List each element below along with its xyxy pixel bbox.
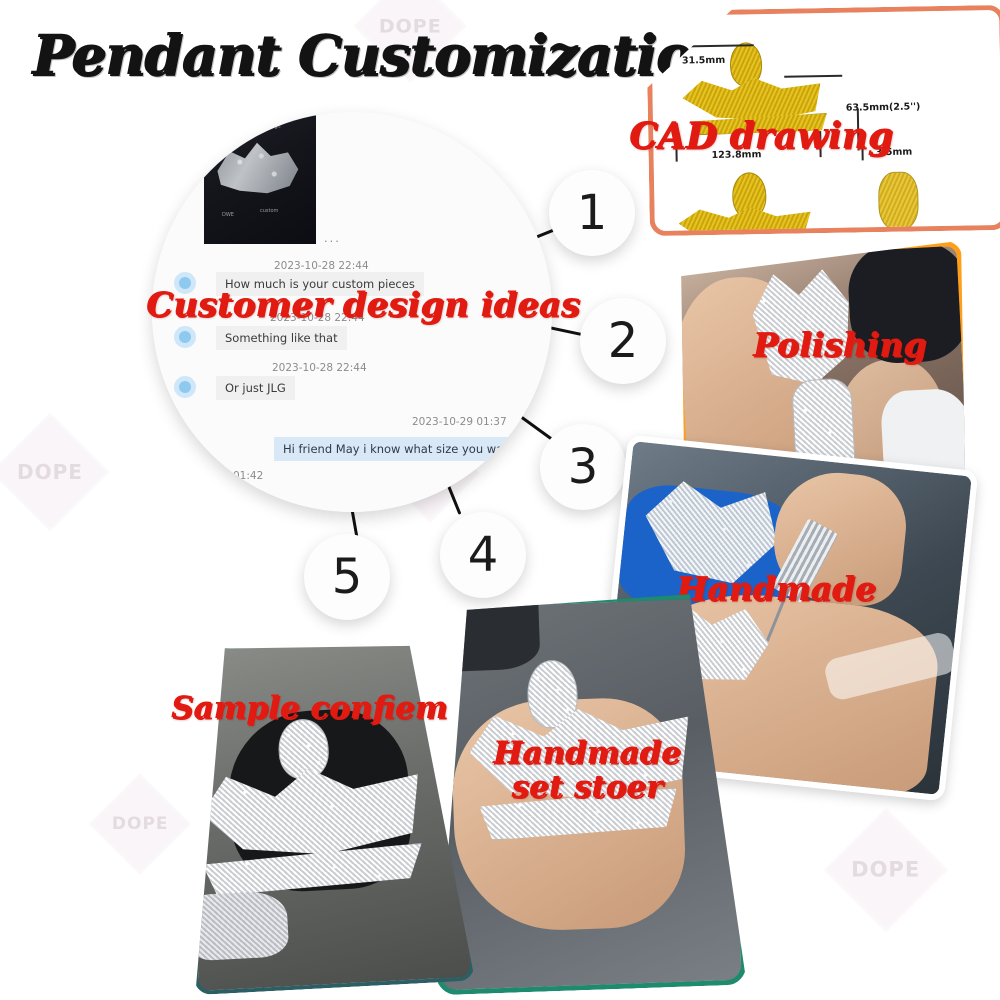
pendant-preview-icon: [214, 138, 300, 198]
chat-message-incoming: Or just JLG: [216, 376, 295, 400]
cad-dimension-label: 63.5mm(2.5''): [846, 101, 921, 113]
step-number-4[interactable]: 4: [440, 512, 526, 598]
infographic-canvas: DOPE DOPE DOPE DOPE DOPE Pendant Customi…: [0, 0, 1000, 1000]
step-number-3-label: 3: [568, 439, 599, 495]
page-title: Pendant Customization: [32, 22, 730, 87]
label-handmade-set-stoer-line1: Handmade: [493, 738, 681, 770]
step-number-1[interactable]: 1: [549, 170, 635, 256]
label-cad-drawing: CAD drawing: [629, 118, 893, 155]
chat-timestamp: 2023-10-28 22:44: [272, 362, 367, 374]
label-handmade-set-stoer-line2: set stoer: [493, 772, 681, 804]
cad-pendant-letters-bottom: [678, 205, 811, 236]
step-number-4-label: 4: [468, 527, 499, 583]
cad-bail-detail: [878, 171, 919, 230]
chat-message-outgoing: Hi friend May i know what size you wa: [274, 437, 512, 461]
chat-message-incoming: Something like that: [216, 326, 347, 350]
cad-dim-line-mid: [784, 75, 842, 78]
cad-dimension-label: 31.5mm: [682, 55, 725, 67]
step-number-2[interactable]: 2: [580, 298, 666, 384]
watermark-logo: DOPE: [89, 773, 191, 875]
chat-timestamp: 23-10-29 01:42: [182, 470, 263, 482]
chat-timestamp: 2023-10-28 22:44: [274, 260, 369, 272]
label-polishing: Polishing: [753, 328, 926, 362]
chat-timestamp: 2023-10-29 01:37: [412, 416, 507, 428]
step-number-1-label: 1: [577, 185, 608, 241]
chat-image-attachment[interactable]: design custom DWE: [204, 112, 316, 244]
watermark-logo: DOPE: [0, 413, 109, 532]
avatar: [174, 326, 196, 348]
panel-sample-confiem[interactable]: [177, 633, 475, 995]
watermark-logo: DOPE: [824, 808, 948, 932]
background-dark-area: [428, 605, 540, 673]
step-number-3[interactable]: 3: [540, 424, 626, 510]
label-sample-confiem: Sample confiem: [171, 693, 447, 725]
label-handmade-set-stoer: Handmade set stoer: [493, 738, 681, 803]
attachment-more-icon[interactable]: ...: [324, 230, 341, 245]
step-number-5-label: 5: [332, 549, 363, 605]
avatar: [174, 376, 196, 398]
label-handmade: Handmade: [676, 572, 876, 606]
step-number-2-label: 2: [608, 313, 639, 369]
denim-texture: [190, 890, 289, 961]
label-customer-design-ideas: Customer design ideas: [146, 288, 580, 323]
step-number-5[interactable]: 5: [304, 534, 390, 620]
